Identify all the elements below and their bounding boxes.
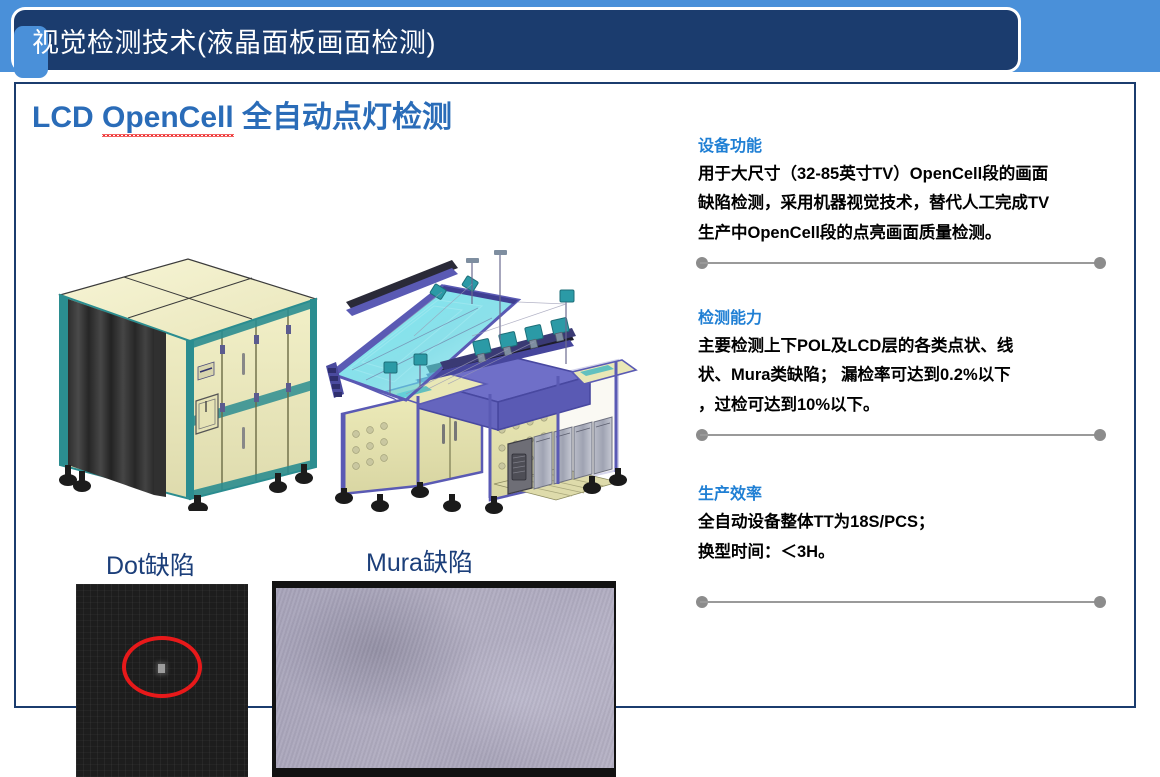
section-divider — [676, 254, 1122, 272]
section-divider — [676, 426, 1122, 444]
info-section-body: 用于大尺寸（32-85英寸TV）OpenCell段的画面 缺陷检测，采用机器视觉… — [698, 160, 1122, 248]
card-heading-term: OpenCell — [102, 101, 234, 135]
card-heading-prefix: LCD — [32, 101, 102, 134]
mura-defect-image — [272, 581, 616, 777]
divider-line — [700, 434, 1100, 436]
defect-highlight-ellipse — [122, 636, 202, 698]
info-section-title: 设备功能 — [698, 132, 1122, 156]
card-heading-suffix: 全自动点灯检测 — [234, 101, 452, 134]
slide-title: 视觉检测技术(液晶面板画面检测) — [14, 21, 436, 60]
info-section-title: 检测能力 — [698, 304, 1122, 328]
dot-defect-caption: Dot缺陷 — [106, 546, 195, 582]
info-column: 设备功能 用于大尺寸（32-85英寸TV）OpenCell段的画面 缺陷检测，采… — [676, 132, 1122, 611]
info-section-title: 生产效率 — [698, 480, 1122, 504]
machine-gantry-illustration — [322, 244, 642, 521]
info-section-body: 全自动设备整体TT为18S/PCS； 换型时间：＜3H。 — [698, 508, 1122, 567]
machine-cabinet-illustration — [46, 249, 326, 516]
section-divider — [676, 593, 1122, 611]
divider-dot-right — [1094, 596, 1106, 608]
mura-defect-caption: Mura缺陷 — [366, 543, 473, 579]
content-card: LCD OpenCell 全自动点灯检测 — [14, 82, 1136, 708]
divider-dot-right — [1094, 429, 1106, 441]
machine-cabinet-svg — [46, 249, 326, 511]
divider-line — [700, 601, 1100, 603]
divider-dot-right — [1094, 257, 1106, 269]
info-section-body: 主要检测上下POL及LCD层的各类点状、线 状、Mura类缺陷； 漏检率可达到0… — [698, 332, 1122, 420]
info-section-equipment-function: 设备功能 用于大尺寸（32-85英寸TV）OpenCell段的画面 缺陷检测，采… — [676, 132, 1122, 272]
mura-panel-surface — [276, 588, 614, 768]
slide-title-bar: 视觉检测技术(液晶面板画面检测) — [14, 10, 1018, 70]
divider-line — [700, 262, 1100, 264]
dot-defect-image — [76, 584, 248, 777]
info-section-inspection-capability: 检测能力 主要检测上下POL及LCD层的各类点状、线 状、Mura类缺陷； 漏检… — [676, 304, 1122, 444]
card-heading: LCD OpenCell 全自动点灯检测 — [32, 92, 452, 136]
info-section-production-efficiency: 生产效率 全自动设备整体TT为18S/PCS； 换型时间：＜3H。 — [676, 480, 1122, 611]
machine-gantry-svg — [322, 244, 642, 516]
